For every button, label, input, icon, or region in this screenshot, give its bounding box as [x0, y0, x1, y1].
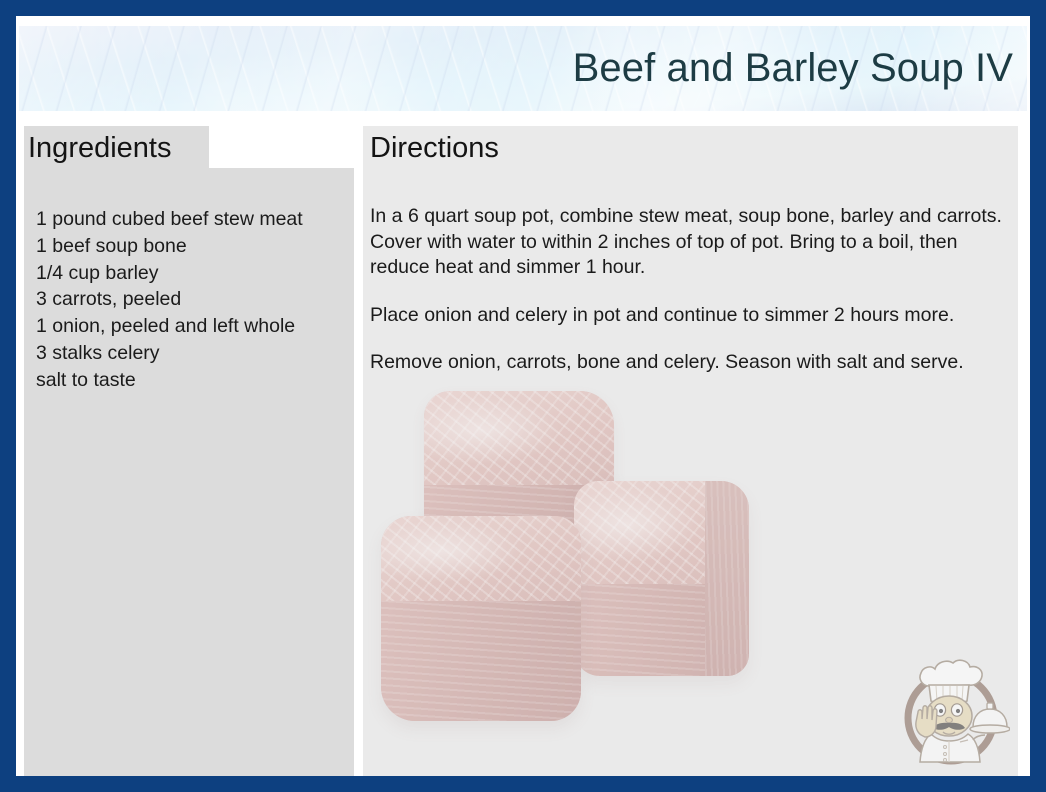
- beef-cube: [381, 516, 581, 721]
- beef-cube-top-face: [381, 516, 581, 604]
- list-item: 1/4 cup barley: [36, 260, 352, 287]
- list-item: 1 beef soup bone: [36, 233, 352, 260]
- directions-heading: Directions: [370, 128, 499, 168]
- ingredients-list: 1 pound cubed beef stew meat 1 beef soup…: [36, 206, 352, 394]
- direction-paragraph: Place onion and celery in pot and contin…: [370, 303, 1014, 329]
- list-item: 3 carrots, peeled: [36, 286, 352, 313]
- ingredients-heading: Ingredients: [28, 128, 172, 168]
- chef-mascot-logo: [892, 644, 1010, 770]
- direction-paragraph: In a 6 quart soup pot, combine stew meat…: [370, 204, 1014, 281]
- beef-cube: [574, 481, 749, 676]
- ingredients-panel: 1 pound cubed beef stew meat 1 beef soup…: [24, 168, 354, 776]
- beef-cube-side-face: [705, 481, 749, 676]
- chef-jacket-icon: [920, 734, 980, 762]
- beef-cube-front-face: [381, 601, 581, 721]
- recipe-title: Beef and Barley Soup IV: [573, 41, 1013, 95]
- list-item: 1 pound cubed beef stew meat: [36, 206, 352, 233]
- directions-body: In a 6 quart soup pot, combine stew meat…: [370, 204, 1014, 398]
- recipe-card: Beef and Barley Soup IV Ingredients 1 po…: [0, 0, 1046, 792]
- list-item: 1 onion, peeled and left whole: [36, 313, 352, 340]
- beef-stew-meat-cubes-photo: [369, 386, 789, 766]
- beef-cube-top-face: [424, 391, 614, 489]
- list-item: 3 stalks celery: [36, 340, 352, 367]
- recipe-page: Beef and Barley Soup IV Ingredients 1 po…: [16, 16, 1030, 776]
- waving-hand-icon: [916, 706, 937, 737]
- direction-paragraph: Remove onion, carrots, bone and celery. …: [370, 350, 1014, 376]
- directions-panel: Directions In a 6 quart soup pot, combin…: [363, 126, 1018, 776]
- title-banner: Beef and Barley Soup IV: [19, 26, 1027, 111]
- list-item: salt to taste: [36, 367, 352, 394]
